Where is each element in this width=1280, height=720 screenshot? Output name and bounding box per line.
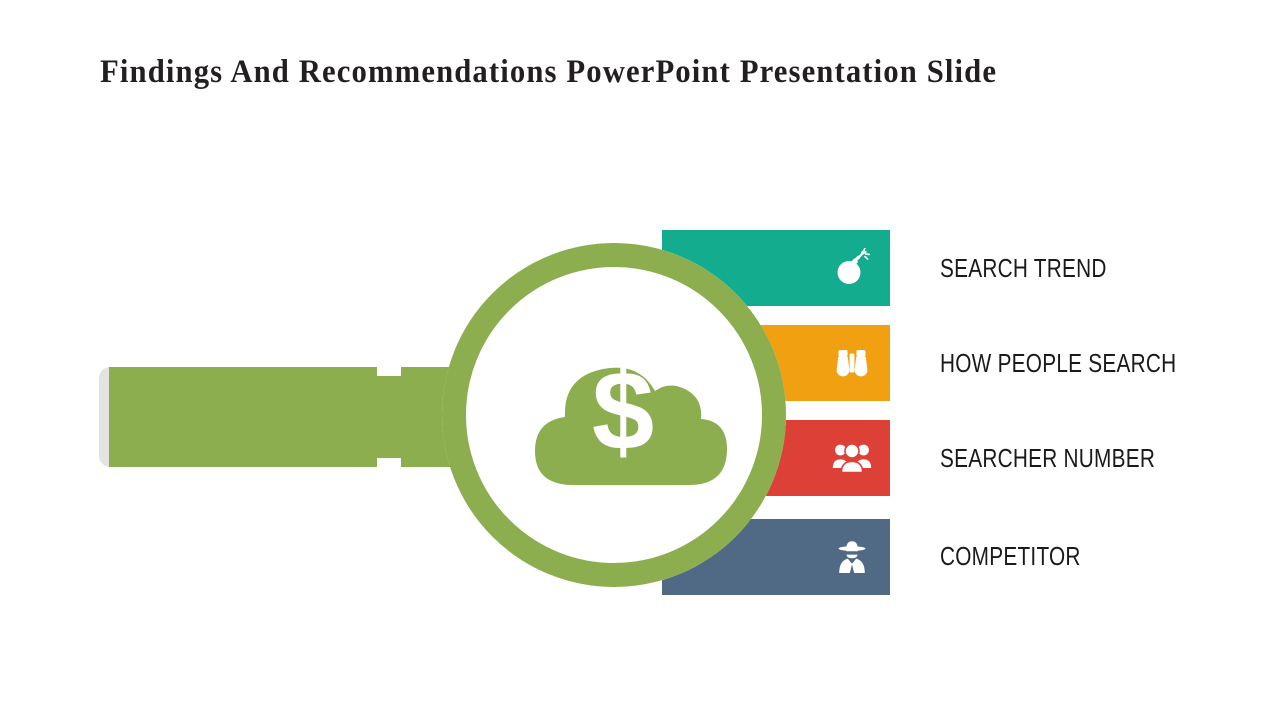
infographic-stage: SEARCH TREND HOW PEOPLE SEARCH SEARCHER …	[0, 0, 1280, 720]
people-group-icon	[814, 420, 890, 496]
spy-detective-icon	[814, 519, 890, 595]
bar-label-searcher-number: SEARCHER NUMBER	[940, 443, 1155, 474]
magnifying-glass: $	[95, 215, 805, 605]
svg-text:$: $	[592, 348, 654, 473]
bar-label-search-trend: SEARCH TREND	[940, 253, 1107, 284]
bar-label-how-people-search: HOW PEOPLE SEARCH	[940, 348, 1176, 379]
binoculars-icon	[814, 325, 890, 401]
bar-label-competitor: COMPETITOR	[940, 541, 1081, 572]
bomb-icon	[814, 230, 890, 306]
